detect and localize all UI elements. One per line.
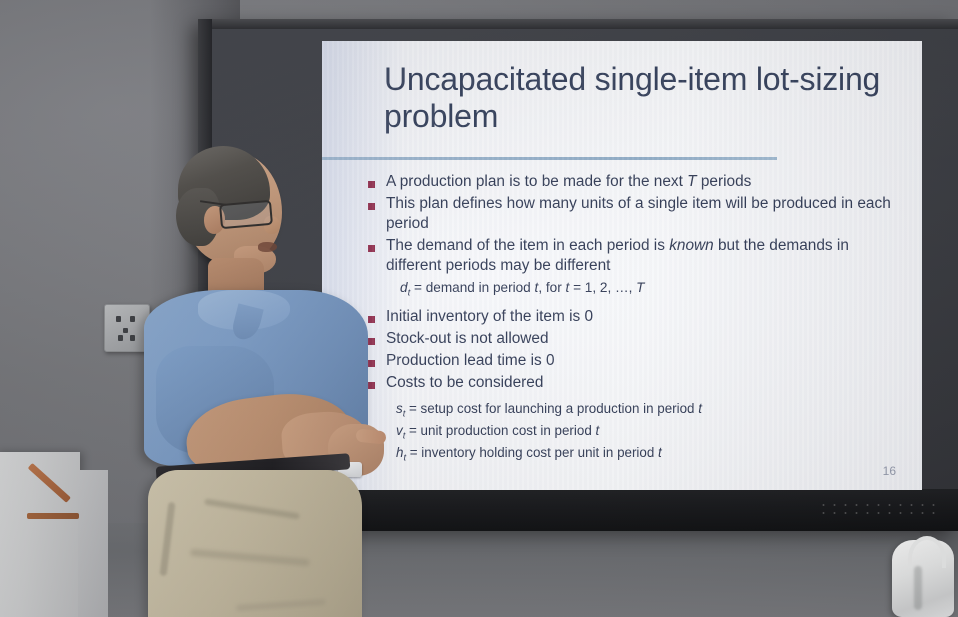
list-item: Production lead time is 0 [368,351,908,371]
speaker-grille-icon [818,501,936,517]
socket-hole [118,335,123,341]
bullet-text: This plan defines how many units of a si… [386,194,908,234]
lecture-room-scene: Uncapacitated single-item lot-sizing pro… [0,0,958,617]
lectern-wood-trim [27,513,79,519]
bullet-text: Initial inventory of the item is 0 [386,307,593,327]
list-item: Costs to be considered [368,373,908,393]
cost-definition: st = setup cost for launching a producti… [396,399,908,421]
socket-hole [116,316,121,322]
list-item: Stock-out is not allowed [368,329,908,349]
list-item: This plan defines how many units of a si… [368,194,908,234]
lectern-side-panel [78,470,108,617]
bullet-text: Production lead time is 0 [386,351,555,371]
presentation-slide: Uncapacitated single-item lot-sizing pro… [322,41,922,490]
glasses-lens-icon [219,200,273,229]
list-item: A production plan is to be made for the … [368,172,908,192]
demand-definition: dt = demand in period t, for t = 1, 2, …… [400,279,908,300]
bullet-text: A production plan is to be made for the … [386,172,751,192]
socket-hole [130,335,135,341]
list-item: The demand of the item in each period is… [368,236,908,276]
presenter-trousers [148,470,362,617]
cost-definition: vt = unit production cost in period t [396,421,908,443]
slide-page-number: 16 [883,464,896,478]
socket-hole [130,316,135,322]
cost-definition: ht = inventory holding cost per unit in … [396,443,908,465]
title-divider-rule [322,157,777,160]
cost-definition-list: st = setup cost for launching a producti… [396,399,908,466]
list-item: Initial inventory of the item is 0 [368,307,908,327]
presenter [142,150,382,617]
slide-title: Uncapacitated single-item lot-sizing pro… [384,61,904,136]
plastic-bag-crease [914,566,922,610]
slide-bullet-list: A production plan is to be made for the … [368,172,908,465]
presenter-mouth [258,242,277,252]
display-bezel-top [198,19,958,29]
socket-hole [123,328,128,333]
bullet-text: The demand of the item in each period is… [386,236,908,276]
bullet-text: Costs to be considered [386,373,543,393]
bullet-text: Stock-out is not allowed [386,329,549,349]
